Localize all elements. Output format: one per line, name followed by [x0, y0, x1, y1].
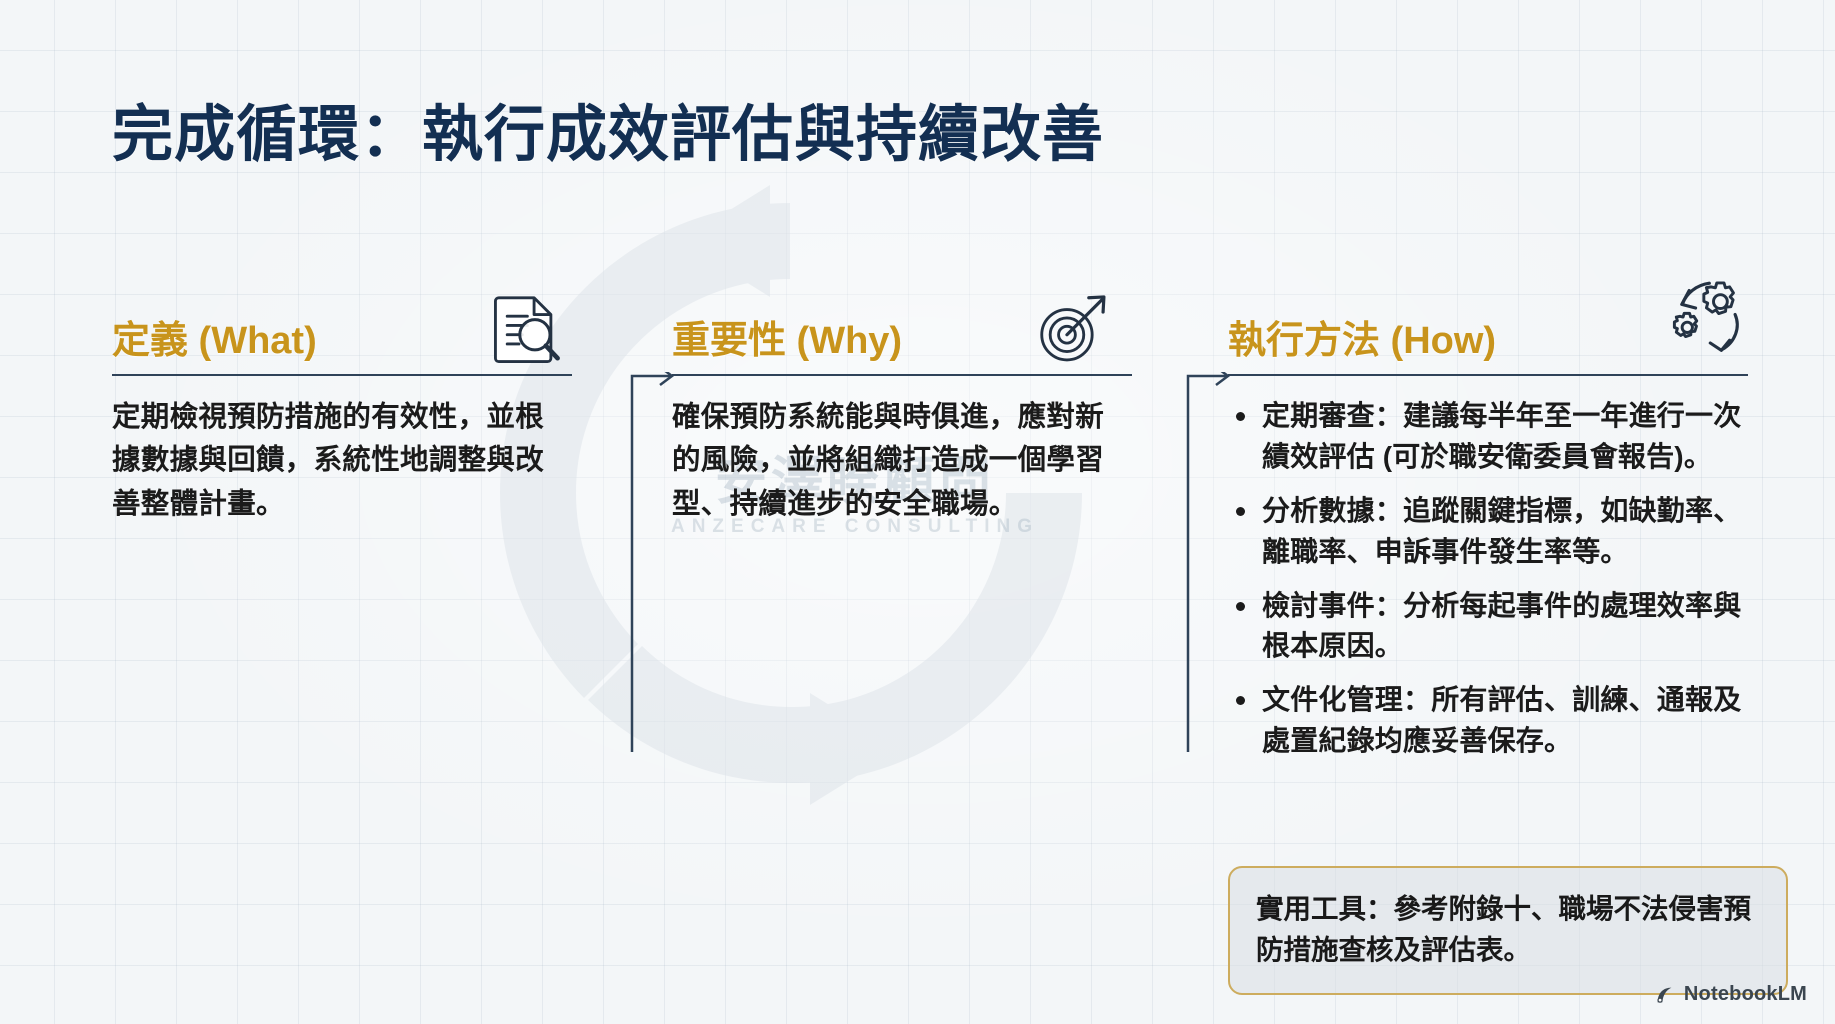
column-3-bullet-list: 定期審查：建議每半年至一年進行一次績效評估 (可於職安衛委員會報告)。 分析數據… — [1228, 396, 1748, 762]
document-search-icon — [482, 286, 566, 370]
column-2-rule — [672, 374, 1132, 376]
column-2-header: 重要性 (Why) — [672, 300, 1132, 372]
column-1-body: 定期檢視預防措施的有效性，並根據數據與回饋，系統性地調整與改善整體計畫。 — [112, 396, 572, 526]
list-item: 文件化管理：所有評估、訓練、通報及處置紀錄均應妥善保存。 — [1262, 680, 1748, 762]
practical-tool-callout: 實用工具：參考附錄十、職場不法侵害預防措施查核及評估表。 — [1228, 866, 1788, 995]
notebooklm-logo-icon — [1654, 984, 1676, 1006]
slide-canvas: 安澤睽顧問 ANZECARE CONSULTING 完成循環：執行成效評估與持續… — [0, 0, 1835, 1024]
list-item: 檢討事件：分析每起事件的處理效率與根本原因。 — [1262, 586, 1748, 668]
column-3-title: 執行方法 (How) — [1228, 309, 1496, 364]
column-2-title: 重要性 (Why) — [672, 309, 902, 364]
list-item: 分析數據：追蹤關鍵指標，如缺勤率、離職率、申訴事件發生率等。 — [1262, 491, 1748, 573]
column-method: 執行方法 (How) 定期審查：建議每半年至一年進行一次績效評估 (可於職安衛委… — [1228, 300, 1748, 775]
brand-name: NotebookLM — [1684, 983, 1807, 1006]
column-2-body: 確保預防系統能與時俱進，應對新的風險，並將組織打造成一個學習型、持續進步的安全職… — [672, 396, 1132, 526]
column-definition: 定義 (What) 定期檢視預防措施的有效性，並根據數據與回饋，系統性地調整與改… — [112, 300, 572, 526]
callout-text: 實用工具：參考附錄十、職場不法侵害預防措施查核及評估表。 — [1256, 888, 1760, 971]
column-3-rule — [1228, 374, 1748, 376]
target-arrow-icon — [1030, 286, 1114, 370]
page-title: 完成循環：執行成效評估與持續改善 — [112, 84, 1104, 173]
gears-cycle-icon — [1656, 274, 1748, 366]
column-importance: 重要性 (Why) 確保預防系統能與時俱進，應對新的風險，並將組織打造成一個學習… — [672, 300, 1132, 526]
notebooklm-badge: NotebookLM — [1654, 983, 1807, 1006]
column-1-rule — [112, 374, 572, 376]
column-3-header: 執行方法 (How) — [1228, 300, 1748, 372]
column-1-title: 定義 (What) — [112, 309, 317, 364]
list-item: 定期審查：建議每半年至一年進行一次績效評估 (可於職安衛委員會報告)。 — [1262, 396, 1748, 478]
column-1-header: 定義 (What) — [112, 300, 572, 372]
